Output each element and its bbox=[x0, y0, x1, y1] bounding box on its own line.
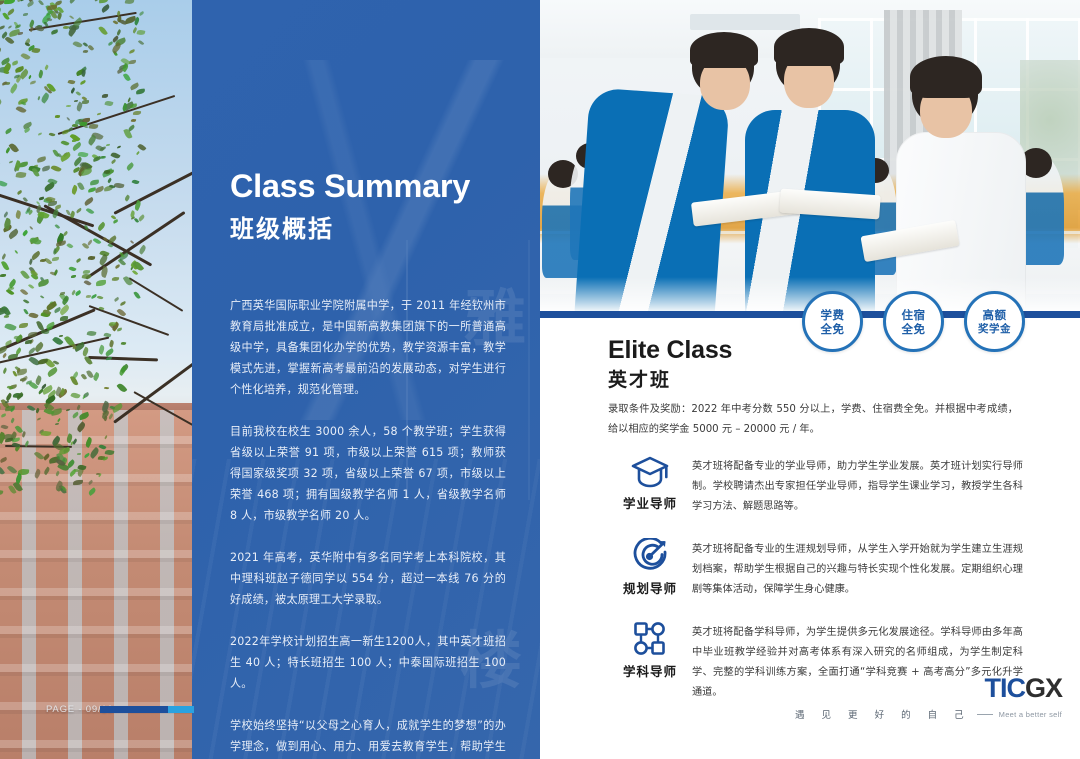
badge-line1: 学费 bbox=[821, 308, 845, 322]
benefit-badges: 学费 全免 住宿 全免 高额 奖学金 bbox=[802, 291, 1025, 352]
elite-title-en: Elite Class bbox=[608, 336, 732, 365]
logo-part-1: TIC bbox=[984, 673, 1025, 703]
elite-class-section: 学费 全免 住宿 全免 高额 奖学金 Elite Class 英才班 录取条件及… bbox=[540, 0, 1080, 759]
target-dart-icon bbox=[631, 538, 669, 574]
summary-title-en: Class Summary bbox=[230, 168, 470, 205]
feature-label: 学业导师 bbox=[623, 493, 677, 512]
badge-tuition-free[interactable]: 学费 全免 bbox=[802, 291, 863, 352]
summary-paragraph: 2021 年高考，英华附中有多名同学考上本科院校，其中理科班赵子德同学以 554… bbox=[230, 547, 506, 610]
badge-line1: 住宿 bbox=[902, 308, 926, 322]
badge-line2: 全免 bbox=[821, 322, 845, 336]
summary-title-cn: 班级概括 bbox=[230, 209, 334, 244]
feature-text: 英才班将配备专业的生涯规划导师，从学生入学开始就为学生建立生涯规划档案，帮助学生… bbox=[692, 538, 1023, 600]
elite-title-cn: 英才班 bbox=[608, 365, 671, 392]
feature-icon-block: 学业导师 bbox=[608, 455, 692, 512]
summary-paragraph: 目前我校在校生 3000 余人，58 个教学班；学生获得省级以上荣誉 91 项，… bbox=[230, 421, 506, 526]
slogan-en: Meet a better self bbox=[999, 710, 1062, 719]
feature-row: 学业导师 英才班将配备专业的学业导师，助力学生学业发展。英才班计划实行导师制。学… bbox=[608, 455, 1023, 517]
page-progress-bar bbox=[100, 706, 194, 713]
left-campus-photo: PAGE - 09/10 bbox=[0, 0, 194, 759]
brand-logo: TICGX bbox=[795, 675, 1062, 702]
slogan-cn: 遇 见 更 好 的 自 己 bbox=[795, 707, 971, 721]
badge-line2: 全免 bbox=[902, 322, 926, 336]
feature-text: 英才班将配备专业的学业导师，助力学生学业发展。英才班计划实行导师制。学校聘请杰出… bbox=[692, 455, 1023, 517]
logo-part-2: GX bbox=[1025, 673, 1062, 703]
tree-foliage bbox=[0, 0, 194, 490]
summary-body: 广西英华国际职业学院附属中学，于 2011 年经钦州市教育局批准成立，是中国新高… bbox=[230, 295, 506, 759]
classroom-photo bbox=[540, 0, 1080, 318]
elite-admission-text: 录取条件及奖励：2022 年中考分数 550 分以上，学费、住宿费全免。并根据中… bbox=[608, 400, 1018, 440]
network-nodes-icon bbox=[631, 621, 669, 657]
progress-track bbox=[168, 706, 194, 713]
feature-row: 规划导师 英才班将配备专业的生涯规划导师，从学生入学开始就为学生建立生涯规划档案… bbox=[608, 538, 1023, 600]
feature-label: 学科导师 bbox=[623, 661, 677, 680]
brand-footer: TICGX 遇 见 更 好 的 自 己 Meet a better self bbox=[795, 675, 1062, 721]
badge-line1: 高额 bbox=[983, 308, 1007, 322]
slogan-divider bbox=[977, 714, 993, 715]
feature-icon-block: 规划导师 bbox=[608, 538, 692, 597]
graduation-cap-icon bbox=[630, 455, 670, 489]
badge-line2: 奖学金 bbox=[978, 322, 1011, 336]
badge-scholarship[interactable]: 高额 奖学金 bbox=[964, 291, 1025, 352]
summary-paragraph: 2022年学校计划招生高一新生1200人，其中英才班招生 40 人；特长班招生 … bbox=[230, 631, 506, 694]
brochure-page: PAGE - 09/10 雅 楼 Class Summary 班级概括 广西英华… bbox=[0, 0, 1080, 759]
badge-accommodation-free[interactable]: 住宿 全免 bbox=[883, 291, 944, 352]
summary-paragraph: 广西英华国际职业学院附属中学，于 2011 年经钦州市教育局批准成立，是中国新高… bbox=[230, 295, 506, 400]
progress-fill bbox=[100, 706, 168, 713]
feature-icon-block: 学科导师 bbox=[608, 621, 692, 680]
brand-slogan: 遇 见 更 好 的 自 己 Meet a better self bbox=[795, 707, 1062, 721]
feature-label: 规划导师 bbox=[623, 578, 677, 597]
summary-paragraph: 学校始终坚持“以父母之心育人，成就学生的梦想”的办学理念，做到用心、用力、用爱去… bbox=[230, 715, 506, 759]
class-summary-panel: 雅 楼 Class Summary 班级概括 广西英华国际职业学院附属中学，于 … bbox=[192, 0, 540, 759]
